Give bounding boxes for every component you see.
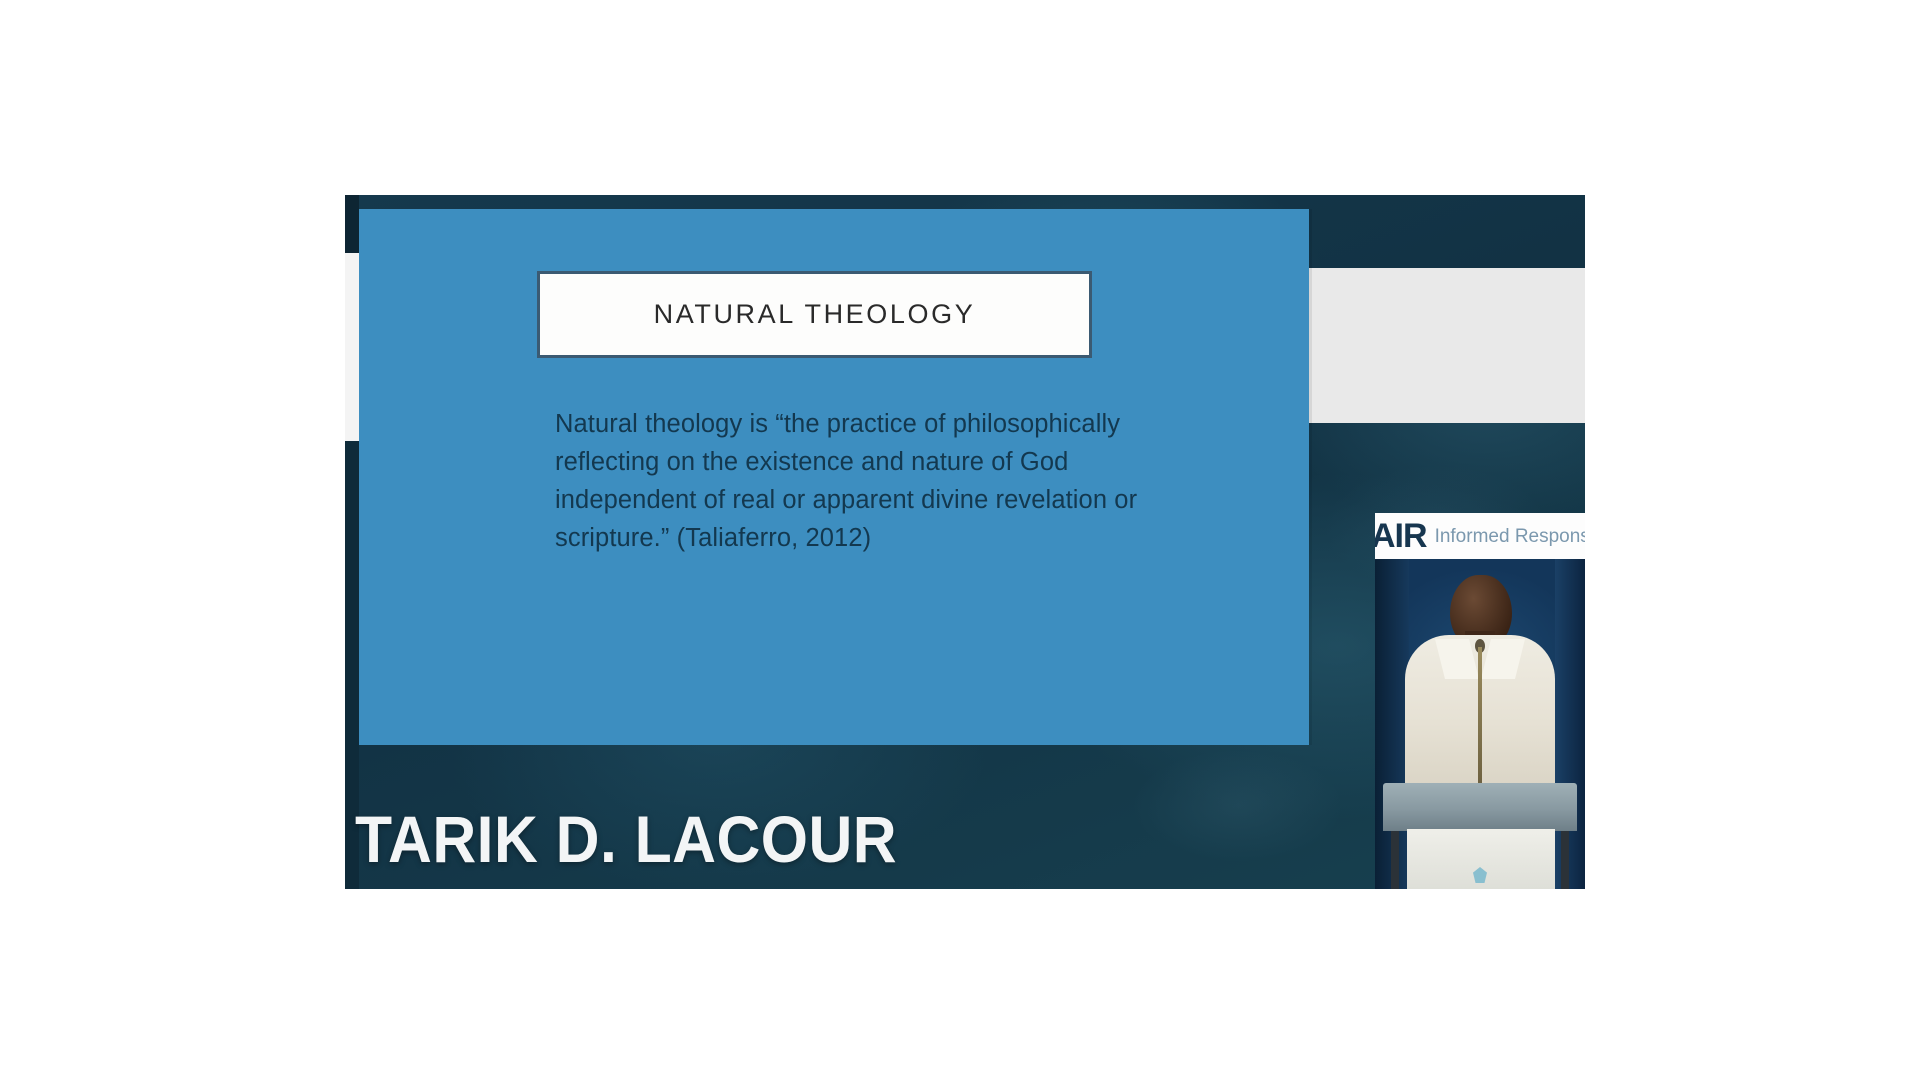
air-logo-banner: AIR Informed Response [1375,513,1585,559]
lectern-top [1383,783,1577,831]
panel-edge-shadow [1309,209,1312,745]
video-player-frame[interactable]: NATURAL THEOLOGY Natural theology is “th… [345,195,1585,889]
speaker-name-lower-third: TARIK D. LACOUR [355,801,897,877]
slide-body-paragraph: Natural theology is “the practice of phi… [555,405,1155,557]
background-left-dark-top [345,195,359,255]
slide-content-panel: NATURAL THEOLOGY Natural theology is “th… [359,209,1309,745]
stage-curtain-right [1555,559,1585,889]
slide-title-text: NATURAL THEOLOGY [654,299,976,330]
slide-title-card: NATURAL THEOLOGY [537,271,1092,358]
background-left-light-strip [345,253,360,443]
lectern-leg-right [1561,831,1569,889]
air-logo-mark: AIR [1375,519,1427,553]
air-logo-tagline: Informed Response [1435,527,1585,546]
page-canvas: NATURAL THEOLOGY Natural theology is “th… [0,0,1920,1080]
microphone-stem [1478,647,1482,789]
lectern-leg-left [1391,831,1399,889]
speaker-camera-pip[interactable]: AIR Informed Response [1375,513,1585,889]
